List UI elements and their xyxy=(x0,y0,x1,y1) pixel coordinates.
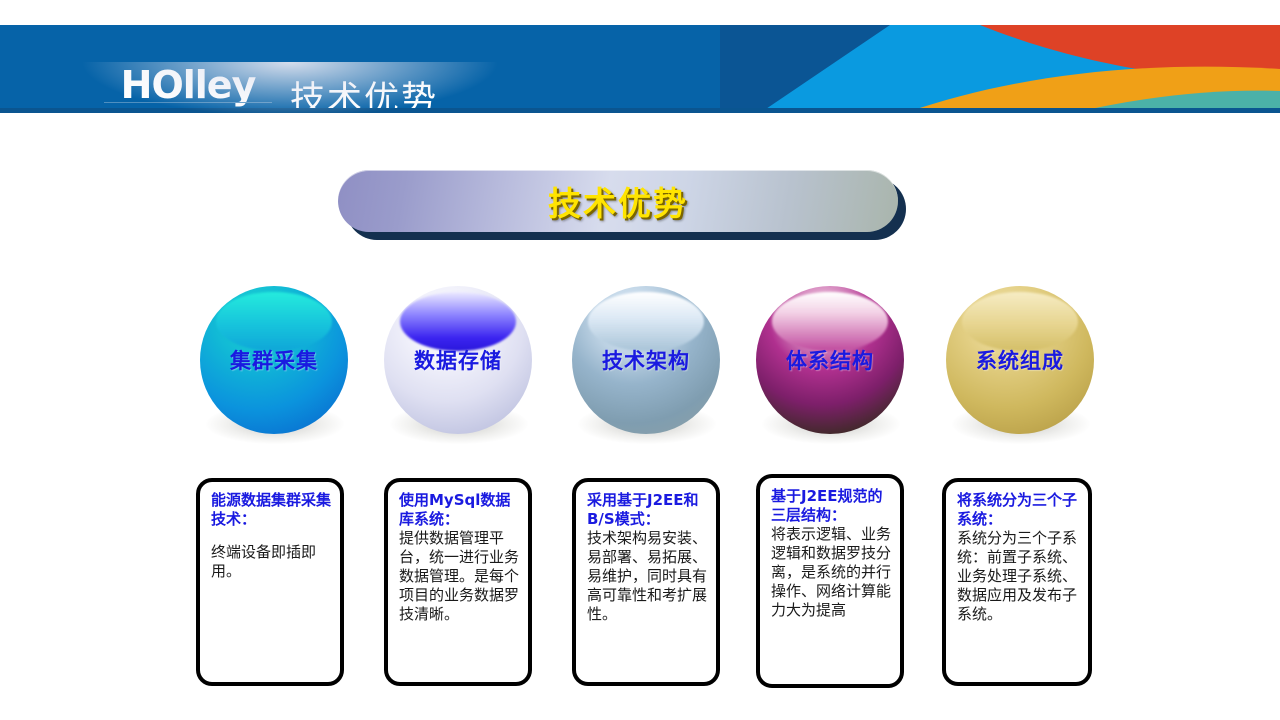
info-card-body: 系统分为三个子系统：前置子系统、业务处理子系统、数据应用及发布子系统。 xyxy=(957,529,1080,624)
sphere-label: 体系结构 xyxy=(756,345,904,375)
sphere-item-5[interactable]: 系统组成 xyxy=(946,286,1096,436)
sphere-label: 数据存储 xyxy=(384,345,532,375)
info-card-heading: 使用MySql数据库系统： xyxy=(399,491,520,529)
header-swoosh-graphic xyxy=(720,25,1280,113)
info-card-body: 将表示逻辑、业务逻辑和数据罗技分离，是系统的并行操作、网络计算能力大为提高 xyxy=(771,525,892,620)
sphere-label: 技术架构 xyxy=(572,345,720,375)
logo-wordmark: HOlley xyxy=(104,66,272,104)
info-card-1[interactable]: 能源数据集群采集技术： 终端设备即插即用。 xyxy=(196,478,344,686)
logo-divider xyxy=(104,102,272,103)
info-card-5[interactable]: 将系统分为三个子系统： 系统分为三个子系统：前置子系统、业务处理子系统、数据应用… xyxy=(942,478,1092,686)
sphere-graphic: 集群采集 xyxy=(200,286,348,434)
sphere-graphic: 体系结构 xyxy=(756,286,904,434)
banner-pill: 技术优势 xyxy=(338,170,898,232)
sphere-item-1[interactable]: 集群采集 xyxy=(200,286,350,436)
sphere-graphic: 技术架构 xyxy=(572,286,720,434)
info-card-2[interactable]: 使用MySql数据库系统： 提供数据管理平台，统一进行业务数据管理。是每个项目的… xyxy=(384,478,532,686)
sphere-label: 集群采集 xyxy=(200,345,348,375)
info-card-heading: 基于J2EE规范的三层结构： xyxy=(771,487,892,525)
sphere-label: 系统组成 xyxy=(946,345,1094,375)
info-card-3[interactable]: 采用基于J2EE和B/S模式： 技术架构易安装、易部署、易拓展、易维护，同时具有… xyxy=(572,478,720,686)
sphere-graphic: 数据存储 xyxy=(384,286,532,434)
slide-header: HOlley TECH 华立科技 技术优势 xyxy=(0,25,1280,113)
info-card-4[interactable]: 基于J2EE规范的三层结构： 将表示逻辑、业务逻辑和数据罗技分离，是系统的并行操… xyxy=(756,474,904,688)
info-card-body: 终端设备即插即用。 xyxy=(211,543,332,581)
sphere-highlight-cap xyxy=(400,292,515,351)
sphere-highlight-cap xyxy=(962,292,1077,351)
sphere-item-4[interactable]: 体系结构 xyxy=(756,286,906,436)
sphere-graphic: 系统组成 xyxy=(946,286,1094,434)
sphere-item-3[interactable]: 技术架构 xyxy=(572,286,722,436)
header-bottom-rule xyxy=(0,108,1280,113)
sphere-highlight-cap xyxy=(588,292,703,351)
info-card-heading: 将系统分为三个子系统： xyxy=(957,491,1080,529)
sphere-item-2[interactable]: 数据存储 xyxy=(384,286,534,436)
info-card-body: 提供数据管理平台，统一进行业务数据管理。是每个项目的业务数据罗技清晰。 xyxy=(399,529,520,624)
title-banner: 技术优势 xyxy=(338,170,898,232)
sphere-highlight-cap xyxy=(216,292,331,351)
holley-logo: HOlley TECH 华立科技 xyxy=(104,66,272,113)
slide-header-title: 技术优势 xyxy=(290,71,438,113)
info-card-heading: 能源数据集群采集技术： xyxy=(211,491,332,529)
sphere-highlight-cap xyxy=(772,292,887,351)
banner-title-text: 技术优势 xyxy=(548,177,688,225)
info-card-body: 技术架构易安装、易部署、易拓展、易维护，同时具有高可靠性和考扩展性。 xyxy=(587,529,708,624)
info-card-heading: 采用基于J2EE和B/S模式： xyxy=(587,491,708,529)
